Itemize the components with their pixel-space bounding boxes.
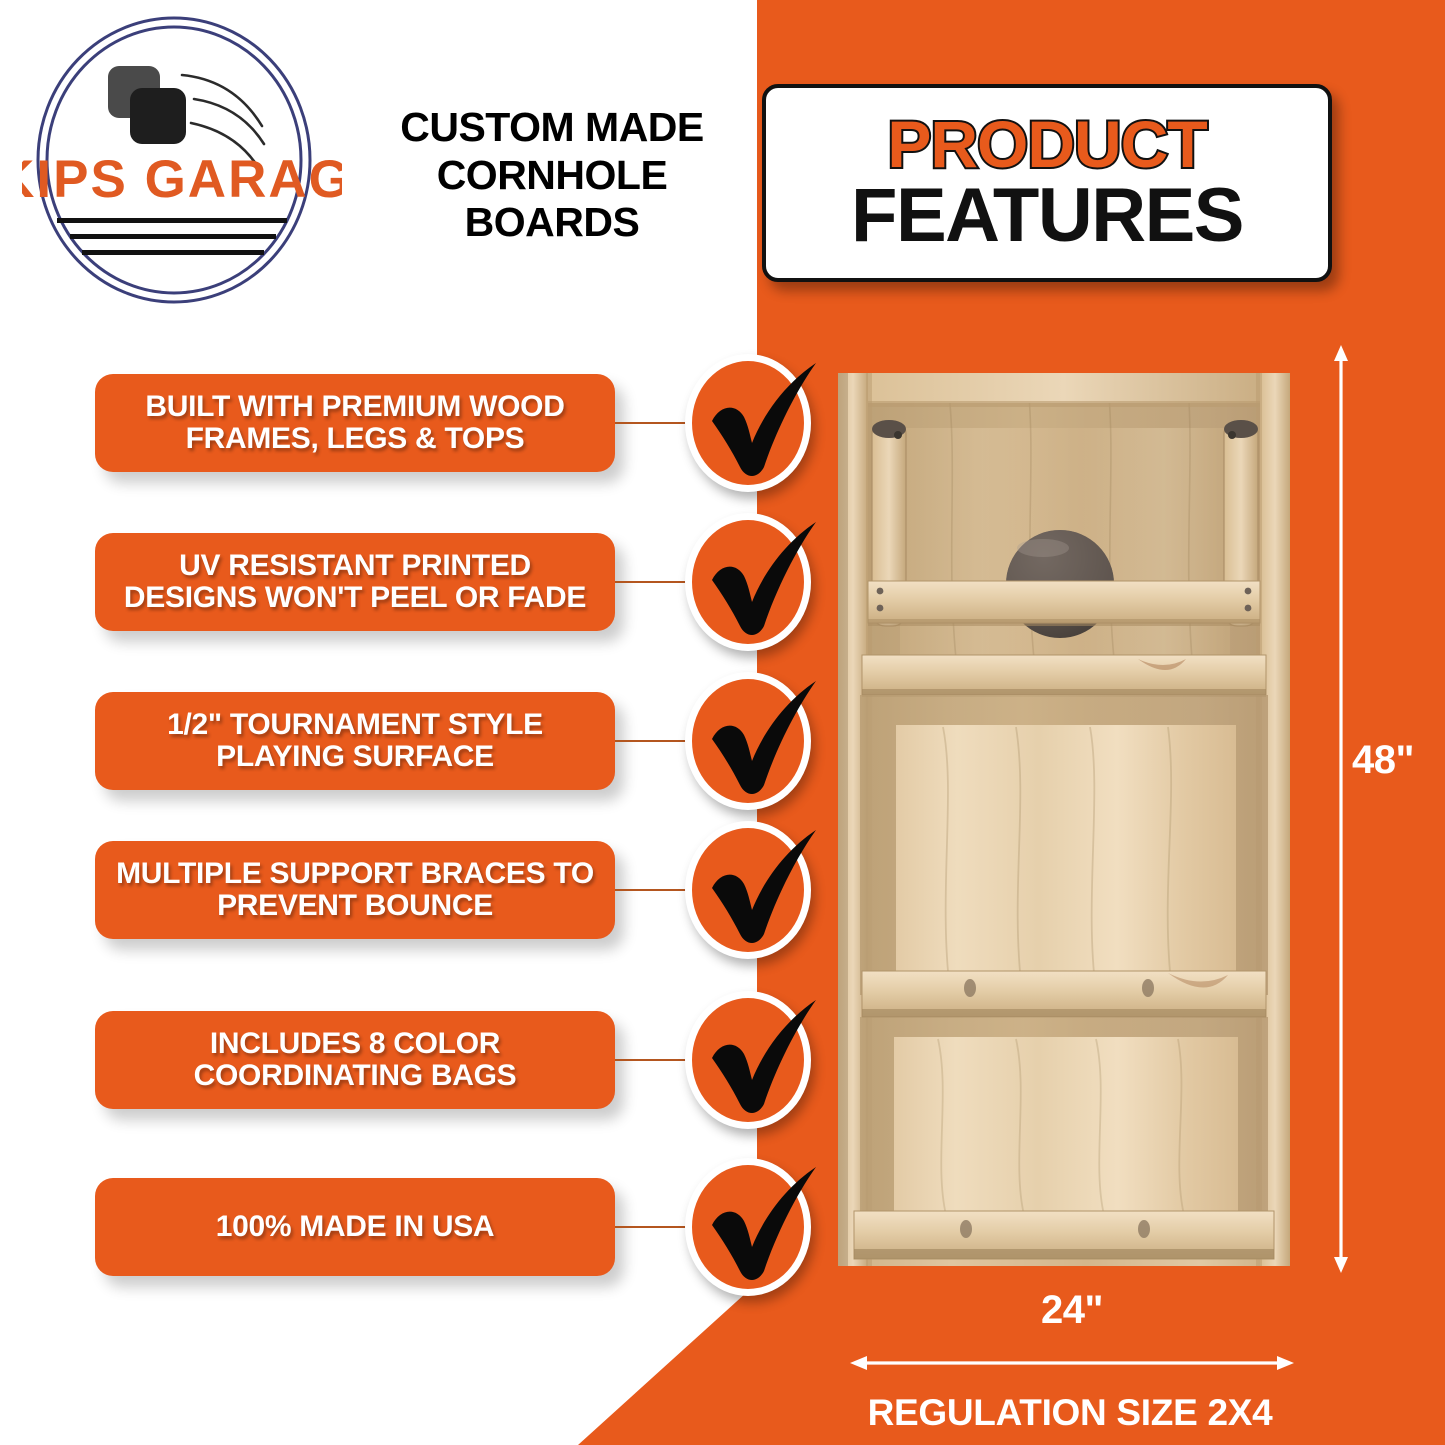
feature-pill: MULTIPLE SUPPORT BRACES TO PREVENT BOUNC… [95, 841, 615, 939]
feature-label: INCLUDES 8 COLOR COORDINATING BAGS [111, 1028, 599, 1093]
checkmark-icon [685, 354, 811, 492]
checkmark-icon [685, 672, 811, 810]
feature-row: 1/2" TOURNAMENT STYLE PLAYING SURFACE [0, 666, 830, 816]
feature-pill: INCLUDES 8 COLOR COORDINATING BAGS [95, 1011, 615, 1109]
width-dimension-arrow [850, 1352, 1294, 1374]
feature-row: 100% MADE IN USA [0, 1152, 830, 1302]
feature-pill: 100% MADE IN USA [95, 1178, 615, 1276]
width-dimension-label: 24" [850, 1288, 1294, 1333]
regulation-size-caption: REGULATION SIZE 2X4 [790, 1392, 1350, 1434]
checkmark-icon [685, 821, 811, 959]
page-title-line-1: CUSTOM MADE [352, 104, 752, 152]
logo-wordmark: SKIPS GARAGE [22, 150, 342, 209]
feature-label: 1/2" TOURNAMENT STYLE PLAYING SURFACE [111, 709, 599, 774]
page-title: CUSTOM MADE CORNHOLE BOARDS [352, 104, 752, 247]
checkmark-icon [685, 1158, 811, 1296]
feature-label: UV RESISTANT PRINTED DESIGNS WON'T PEEL … [111, 550, 599, 615]
height-dimension-label: 48" [1352, 738, 1414, 783]
height-dimension-arrow [1333, 345, 1349, 1273]
feature-pill: UV RESISTANT PRINTED DESIGNS WON'T PEEL … [95, 533, 615, 631]
badge-line-product: PRODUCT [887, 112, 1206, 177]
feature-pill: BUILT WITH PREMIUM WOOD FRAMES, LEGS & T… [95, 374, 615, 472]
page-title-line-3: BOARDS [352, 199, 752, 247]
feature-row: BUILT WITH PREMIUM WOOD FRAMES, LEGS & T… [0, 348, 830, 498]
feature-label: MULTIPLE SUPPORT BRACES TO PREVENT BOUNC… [111, 858, 599, 923]
feature-row: UV RESISTANT PRINTED DESIGNS WON'T PEEL … [0, 507, 830, 657]
feature-label: 100% MADE IN USA [216, 1211, 495, 1243]
brand-logo: SKIPS GARAGE [22, 14, 342, 306]
badge-line-features: FEATURES [851, 179, 1243, 253]
page-title-line-2: CORNHOLE [352, 152, 752, 200]
checkmark-icon [685, 513, 811, 651]
checkmark-icon [685, 991, 811, 1129]
feature-row: MULTIPLE SUPPORT BRACES TO PREVENT BOUNC… [0, 815, 830, 965]
cornhole-board-photo [838, 373, 1290, 1266]
product-features-badge: PRODUCT FEATURES [762, 84, 1332, 282]
feature-row: INCLUDES 8 COLOR COORDINATING BAGS [0, 985, 830, 1135]
feature-label: BUILT WITH PREMIUM WOOD FRAMES, LEGS & T… [111, 391, 599, 456]
feature-pill: 1/2" TOURNAMENT STYLE PLAYING SURFACE [95, 692, 615, 790]
